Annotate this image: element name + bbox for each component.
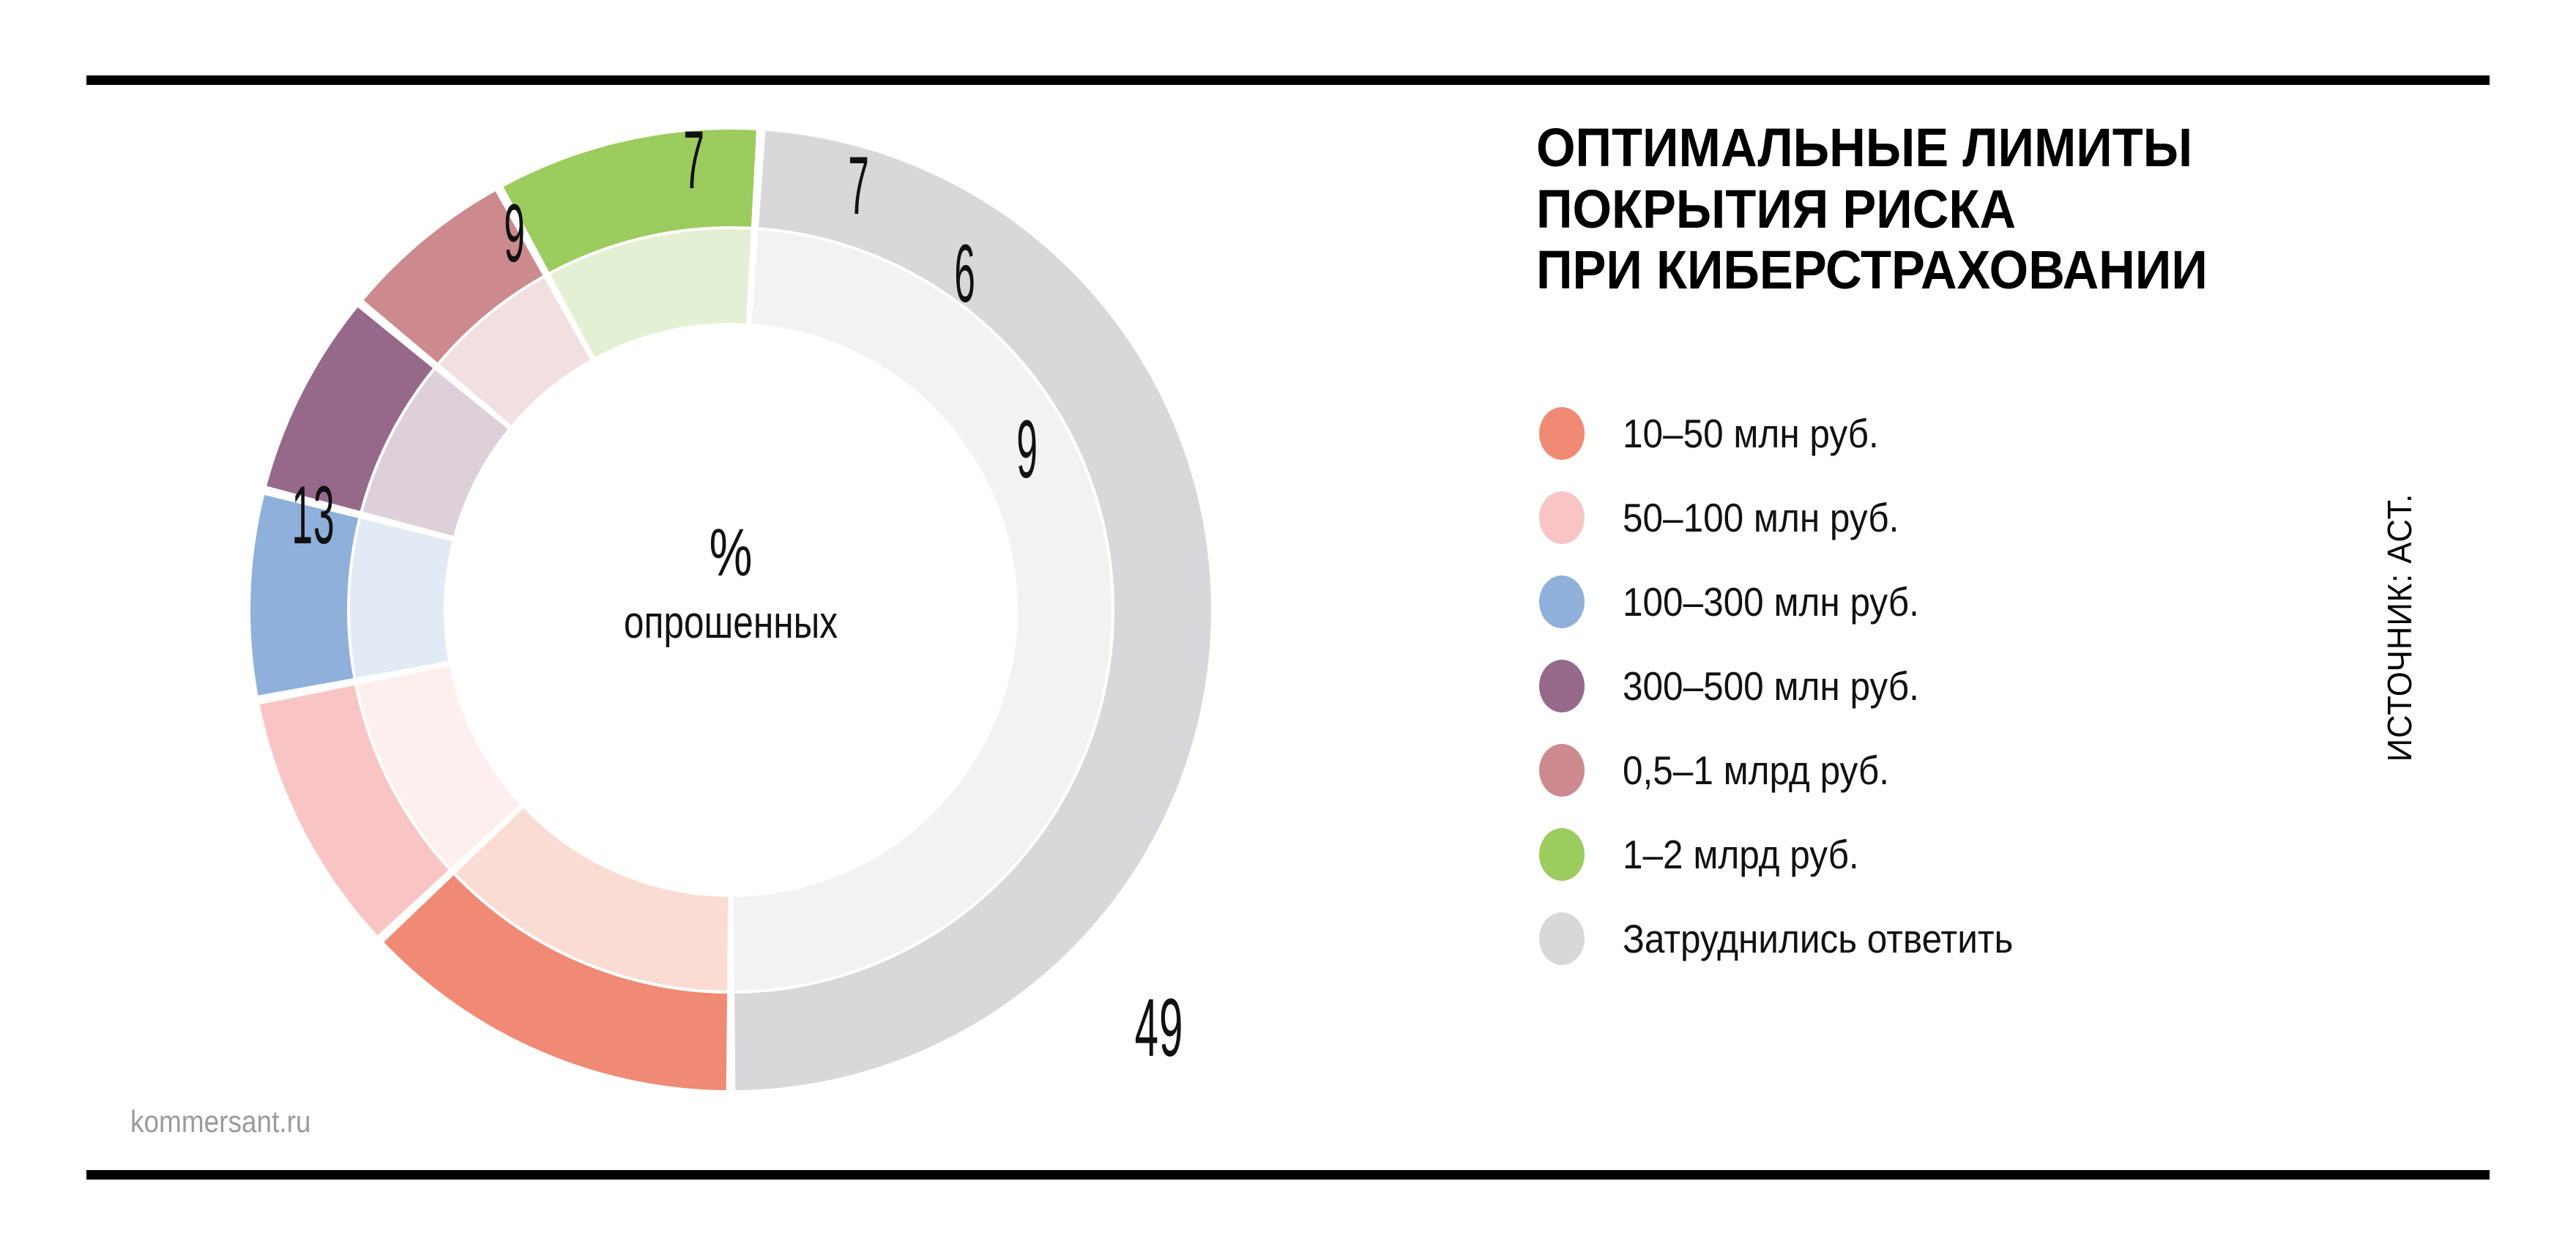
legend-label: 0,5–1 млрд руб.: [1623, 747, 1889, 794]
legend-label: 100–300 млн руб.: [1623, 578, 1919, 625]
legend: 10–50 млн руб.50–100 млн руб.100–300 млн…: [1539, 391, 2345, 980]
segment-value-7-b: 7: [815, 145, 903, 227]
legend-label: 50–100 млн руб.: [1623, 494, 1899, 541]
donut-chart-area: 13 9 7 7 6 9 49 % опрошенных kommersant.…: [86, 75, 1478, 1180]
segment-value-49: 49: [1096, 987, 1222, 1069]
legend-item[interactable]: 10–50 млн руб.: [1539, 391, 2345, 475]
kommersant-watermark: kommersant.ru: [130, 1104, 310, 1139]
legend-label: Затруднились ответить: [1623, 915, 2013, 962]
legend-item[interactable]: 50–100 млн руб.: [1539, 475, 2345, 559]
legend-swatch: [1539, 828, 1585, 881]
segment-value-9-a: 9: [471, 193, 559, 275]
legend-label: 1–2 млрд руб.: [1623, 831, 1859, 878]
legend-label: 10–50 млн руб.: [1623, 410, 1879, 457]
legend-swatch: [1539, 576, 1585, 628]
source-label: ИСТОЧНИК: АСТ.: [2380, 494, 2419, 762]
segment-value-6: 6: [921, 233, 1009, 315]
legend-item[interactable]: 1–2 млрд руб.: [1539, 812, 2345, 896]
legend-swatch: [1539, 660, 1585, 712]
legend-item[interactable]: 300–500 млн руб.: [1539, 644, 2345, 728]
legend-label: 300–500 млн руб.: [1623, 663, 1919, 710]
legend-swatch: [1539, 491, 1585, 544]
segment-value-9-b: 9: [983, 409, 1071, 491]
source-note: ИСТОЧНИК: АСТ.: [2367, 0, 2432, 1255]
legend-item[interactable]: Затруднились ответить: [1539, 896, 2345, 980]
segment-value-7-a: 7: [650, 119, 738, 201]
right-panel: ОПТИМАЛЬНЫЕ ЛИМИТЫ ПОКРЫТИЯ РИСКА ПРИ КИ…: [1536, 117, 2400, 1142]
legend-swatch: [1539, 912, 1585, 965]
center-percent-symbol: %: [383, 515, 1079, 592]
center-subtitle: опрошенных: [344, 597, 1117, 649]
legend-swatch: [1539, 407, 1585, 460]
segment-value-13: 13: [269, 474, 357, 556]
legend-swatch: [1539, 744, 1585, 797]
page-title: ОПТИМАЛЬНЫЕ ЛИМИТЫ ПОКРЫТИЯ РИСКА ПРИ КИ…: [1536, 117, 2339, 301]
legend-item[interactable]: 100–300 млн руб.: [1539, 559, 2345, 644]
legend-item[interactable]: 0,5–1 млрд руб.: [1539, 728, 2345, 812]
